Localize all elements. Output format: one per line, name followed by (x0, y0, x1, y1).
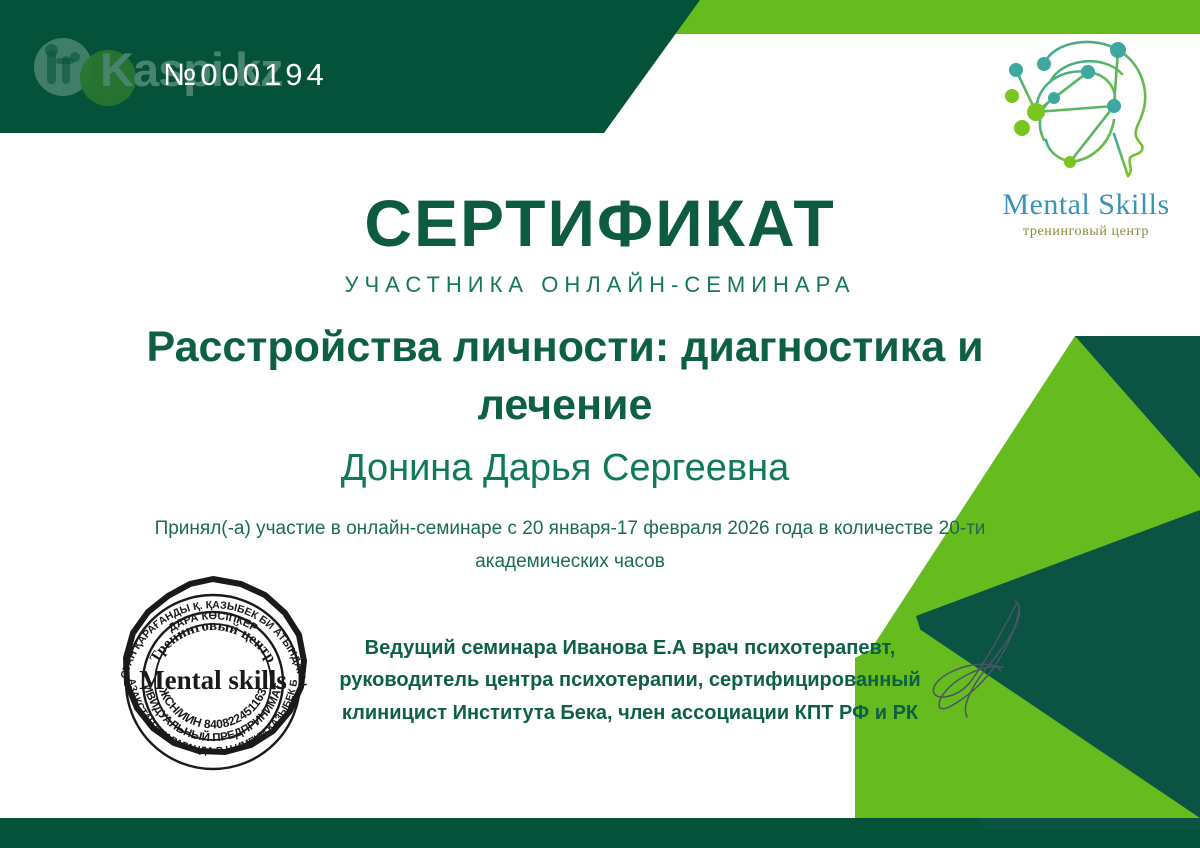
participation-text: Принял(-а) участие в онлайн-семинаре с 2… (150, 512, 990, 579)
certificate-number: №000194 (163, 57, 328, 93)
seminar-title: Расстройства личности: диагностика и леч… (70, 318, 1060, 434)
handwritten-signature-icon (915, 585, 1055, 725)
certificate-page: Kaspi.kz №000194 (0, 0, 1200, 848)
stamp-inner-arc: Тренинговый центр (147, 618, 279, 665)
instructor-credentials: Ведущий семинара Иванова Е.А врач психот… (300, 632, 960, 729)
page-title: СЕРТИФИКАТ (0, 185, 1200, 261)
participant-name: Донина Дарья Сергеевна (90, 447, 1040, 490)
svg-text:Тренинговый центр: Тренинговый центр (147, 618, 279, 665)
official-stamp: ҚАЗАҚСТАН ҚАРАҒАНДЫ Қ. ҚАЗЫБЕК БИ АТЫНДА… (105, 573, 321, 791)
mental-skills-head-network-icon (992, 24, 1182, 184)
stamp-center-label: Mental skills (139, 665, 287, 695)
page-subtitle: УЧАСТНИКА ОНЛАЙН-СЕМИНАРА (0, 272, 1200, 298)
